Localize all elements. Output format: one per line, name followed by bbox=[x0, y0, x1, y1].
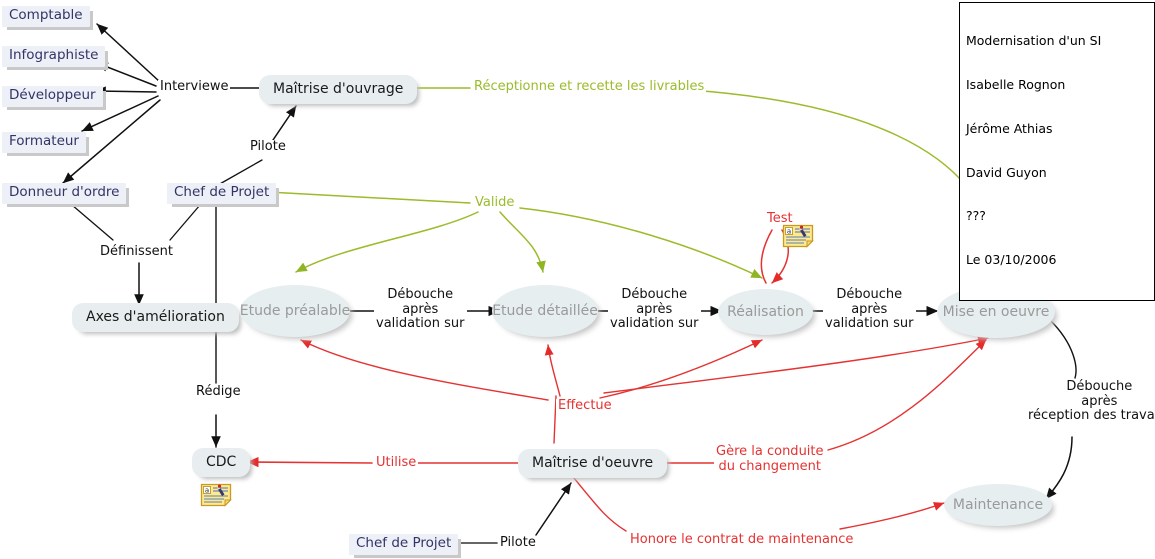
node-label: Maintenance bbox=[953, 497, 1043, 513]
edge-label-receptionne: Réceptionne et recette les livrables bbox=[472, 80, 706, 95]
node-label: Maîtrise d'ouvrage bbox=[273, 81, 403, 97]
node-label: CDC bbox=[206, 454, 236, 470]
edge-label-honore: Honore le contrat de maintenance bbox=[628, 533, 855, 548]
node-maitrise-doeuvre[interactable]: Maîtrise d'oeuvre bbox=[518, 449, 667, 478]
edge-pilote-moe bbox=[536, 483, 571, 535]
note-icon-test[interactable]: a bbox=[782, 224, 814, 252]
node-label: Infographiste bbox=[9, 48, 98, 64]
title-legend-box: Modernisation d'un SI Isabelle Rognon Jé… bbox=[959, 2, 1155, 301]
date-line: Le 03/10/2006 bbox=[966, 253, 1149, 268]
edge-label-pilote-top: Pilote bbox=[248, 140, 288, 155]
edge-label-debouche-4: Débouche après réception des travaux bbox=[1026, 380, 1155, 424]
node-maitrise-douvrage[interactable]: Maîtrise d'ouvrage bbox=[259, 75, 417, 104]
edge-label-redige: Rédige bbox=[194, 385, 243, 400]
edge-test-loop-left bbox=[761, 230, 772, 283]
edge-effectue-realisation bbox=[600, 340, 762, 398]
node-label: Développeur bbox=[9, 88, 96, 104]
edge-effectue-etude-prealable bbox=[301, 340, 548, 400]
edge-moe-honore-line bbox=[574, 478, 626, 531]
note-icon-cdc[interactable]: a bbox=[200, 483, 232, 511]
title-line: Modernisation d'un SI bbox=[966, 34, 1149, 49]
edge-pilote-cp-line1 bbox=[218, 160, 262, 185]
node-label: Mise en oeuvre bbox=[943, 304, 1050, 320]
node-label: Comptable bbox=[9, 8, 83, 24]
edge-debouche-maintenance bbox=[1046, 437, 1072, 499]
svg-text:a: a bbox=[787, 228, 791, 236]
edge-label-valide: Valide bbox=[473, 196, 516, 211]
edge-pilote-cp-arrow bbox=[273, 106, 296, 140]
edge-label-debouche-2: Débouche après validation sur bbox=[608, 288, 701, 332]
node-chef-de-projet[interactable]: Chef de Projet bbox=[167, 183, 276, 204]
edge-honore-maintenance bbox=[840, 503, 944, 529]
edge-label-definissent: Définissent bbox=[98, 245, 175, 260]
edge-mo-debouche-line1 bbox=[1050, 320, 1076, 378]
svg-text:a: a bbox=[205, 487, 209, 495]
node-label: Etude détaillée bbox=[492, 303, 598, 319]
node-formateur[interactable]: Formateur bbox=[2, 132, 86, 153]
node-axes-amelioration[interactable]: Axes d'amélioration bbox=[72, 303, 239, 332]
edge-gere-mise-en-oeuvre bbox=[828, 340, 986, 450]
author-line: Jérôme Athias bbox=[966, 122, 1149, 137]
edge-valide-realisation bbox=[520, 208, 762, 278]
edge-label-pilote-bottom: Pilote bbox=[498, 536, 538, 551]
node-infographiste[interactable]: Infographiste bbox=[2, 46, 105, 67]
author-line: ??? bbox=[966, 209, 1149, 224]
node-developpeur[interactable]: Développeur bbox=[2, 86, 103, 107]
edge-label-gere-conduite: Gère la conduite du changement bbox=[714, 445, 826, 474]
node-label: Donneur d'ordre bbox=[9, 185, 119, 201]
node-label: Formateur bbox=[9, 134, 79, 150]
note-icon: a bbox=[782, 224, 814, 248]
edge-cp-valide-left bbox=[268, 192, 470, 203]
node-maintenance[interactable]: Maintenance bbox=[944, 484, 1052, 526]
node-label: Chef de Projet bbox=[356, 536, 451, 552]
edge-label-effectue: Effectue bbox=[556, 399, 614, 414]
node-chef-de-projet-2[interactable]: Chef de Projet bbox=[349, 534, 458, 555]
edge-effectue-etude-detaillee bbox=[548, 345, 560, 396]
author-line: David Guyon bbox=[966, 166, 1149, 181]
edge-valide-etude-prealable bbox=[296, 212, 478, 272]
node-label: Chef de Projet bbox=[174, 185, 269, 201]
node-comptable[interactable]: Comptable bbox=[2, 6, 90, 27]
edge-valide-etude-detaillee bbox=[500, 212, 543, 272]
edge-label-utilise: Utilise bbox=[374, 456, 418, 471]
concept-map-canvas: Comptable Infographiste Développeur Form… bbox=[0, 0, 1155, 559]
edge-label-debouche-1: Débouche après validation sur bbox=[374, 288, 467, 332]
node-realisation[interactable]: Réalisation bbox=[718, 289, 813, 335]
node-etude-prealable[interactable]: Etude préalable bbox=[240, 285, 350, 337]
node-label: Réalisation bbox=[727, 304, 804, 320]
edge-label-debouche-3: Débouche après validation sur bbox=[823, 288, 916, 332]
author-line: Isabelle Rognon bbox=[966, 78, 1149, 93]
node-label: Maîtrise d'oeuvre bbox=[532, 455, 653, 471]
edge-cp-definissent bbox=[170, 205, 200, 240]
node-label: Axes d'amélioration bbox=[86, 309, 225, 325]
node-cdc[interactable]: CDC bbox=[192, 448, 250, 477]
node-donneur-ordre[interactable]: Donneur d'ordre bbox=[2, 183, 126, 204]
node-label: Etude préalable bbox=[240, 303, 351, 319]
edge-effectue-mise-en-oeuvre bbox=[604, 338, 988, 393]
edge-utilise-cdc bbox=[247, 462, 372, 463]
edge-donneur-definissent bbox=[72, 205, 113, 240]
edge-label-interviewe: Interviewe bbox=[158, 80, 230, 95]
node-etude-detaillee[interactable]: Etude détaillée bbox=[492, 285, 598, 337]
edge-receptionne-mise-en-oeuvre bbox=[690, 90, 995, 273]
note-icon: a bbox=[200, 483, 232, 507]
